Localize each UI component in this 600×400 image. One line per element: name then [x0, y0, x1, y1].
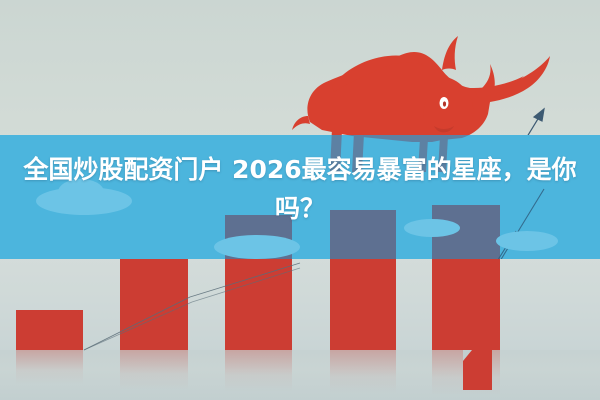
headline-text: 全国炒股配资门户 2026最容易暴富的星座，是你吗？: [0, 150, 600, 228]
cloud-shape: [496, 231, 558, 251]
promo-banner-image: 全国炒股配资门户 2026最容易暴富的星座，是你吗？: [0, 0, 600, 400]
cloud-shape: [214, 235, 300, 259]
chart-guide-lines: [0, 255, 600, 365]
